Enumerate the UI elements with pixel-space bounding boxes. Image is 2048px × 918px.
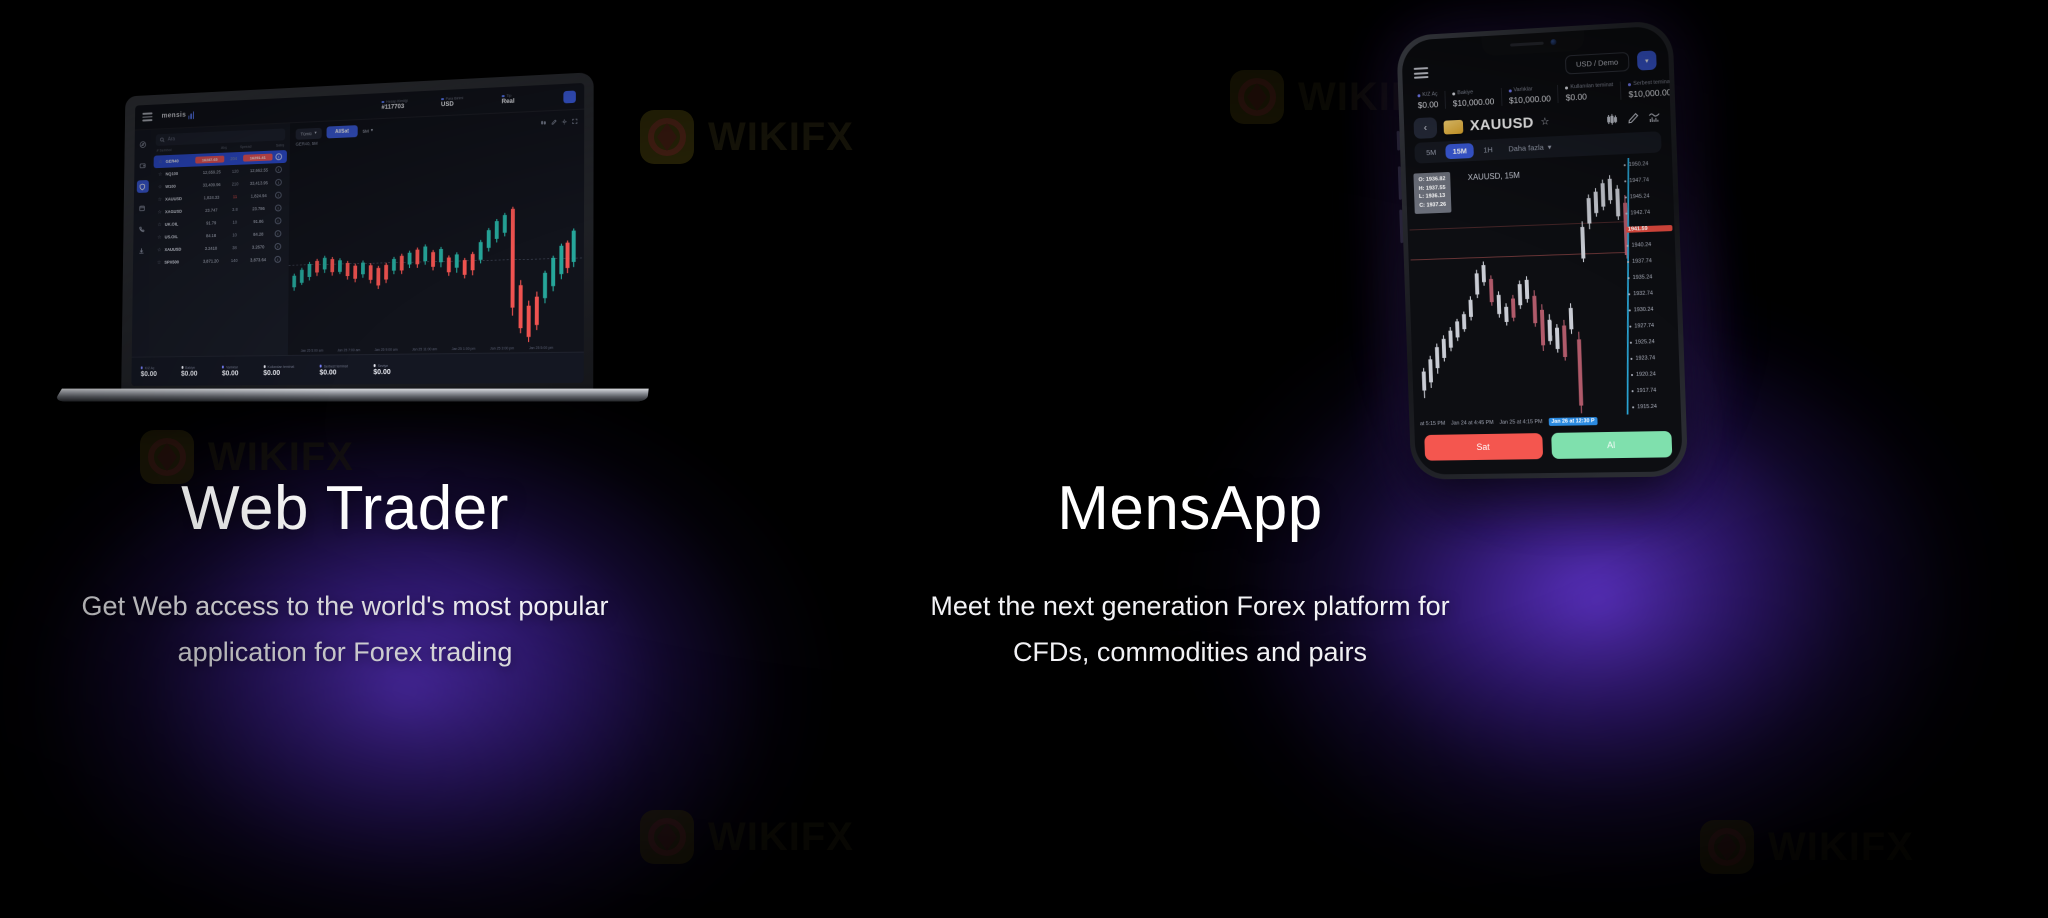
web-trader-caption: Web Trader Get Web access to the world's…	[0, 478, 690, 676]
price-tick: 1927.74	[1629, 322, 1676, 329]
currency-label: Para Birimi	[446, 96, 464, 101]
stat-free-margin: Serbest teminat $0.00	[319, 364, 347, 376]
account-stats-bar: K/Z Aç $0.00 Bakiye $0.00 Varlıklar $0.0…	[131, 352, 583, 386]
candlestick-icon[interactable]	[541, 120, 547, 126]
gold-bar-icon	[1443, 119, 1463, 134]
watermark-text: WIKIFX	[708, 815, 854, 860]
web-trader-screen: mensis Hesap Kimliği #117703 Para Birimi…	[131, 83, 584, 386]
sidebar-item-calendar[interactable]	[136, 201, 148, 214]
camera-icon	[1550, 39, 1556, 45]
indicator-chart-icon[interactable]	[1648, 110, 1661, 123]
account-type-cell: Tip Real	[502, 92, 549, 105]
price-tick: 1925.24	[1630, 339, 1677, 346]
wikifx-logo-icon	[640, 110, 694, 164]
candlestick-icon[interactable]	[1606, 113, 1618, 126]
info-icon[interactable]: i	[275, 192, 282, 199]
x-tick: at 5:15 PM	[1420, 421, 1445, 427]
chevron-down-icon: ▾	[314, 130, 316, 136]
star-icon[interactable]: ☆	[158, 172, 163, 178]
star-icon[interactable]: ☆	[158, 184, 163, 190]
stat-pnl: K/Z Aç $0.00	[141, 366, 157, 378]
account-summary: Hesap Kimliği #117703 Para Birimi USD Ti…	[381, 90, 576, 112]
phone-body: USD / Demo ▾ K/Z Aç $0.00 Bakiye $10,000…	[1396, 20, 1688, 480]
star-icon[interactable]: ☆	[157, 247, 162, 253]
stat-used-margin: Kullanılan teminat $0.00	[263, 364, 294, 376]
price-chart[interactable]: O: 1936.82 H: 1937.55 L: 1936.13 C: 1937…	[1407, 156, 1678, 418]
account-type-value: Real	[502, 97, 549, 105]
watermark-text: WIKIFX	[1768, 825, 1914, 870]
stat-level: Seviye $0.00	[373, 363, 390, 375]
chart-canvas	[288, 136, 584, 348]
ohlc-tooltip: O: 1936.82 H: 1937.55 L: 1936.13 C: 1937…	[1413, 172, 1451, 214]
chevron-down-icon[interactable]: ▾	[1637, 50, 1657, 70]
stat-pnl: K/Z Aç $0.00	[1411, 91, 1447, 111]
info-icon[interactable]: i	[274, 243, 281, 250]
laptop-lid: mensis Hesap Kimliği #117703 Para Birimi…	[121, 72, 594, 397]
col-bid: Alış	[199, 146, 227, 151]
current-time-tag: Jan 26 at 12:30 P	[1548, 417, 1597, 426]
price-tick: 1935.24	[1628, 274, 1675, 282]
web-trader-body: Ara # Sembol Alış Spread Satış ☆ GER40 1…	[132, 110, 584, 357]
current-price-tag: 1941.59	[1626, 225, 1673, 233]
sell-button[interactable]: Sat	[1424, 433, 1542, 461]
laptop-base	[54, 389, 649, 402]
sidebar-item-download[interactable]	[135, 244, 147, 257]
stat-equity: Varlıklar $10,000.00	[1502, 85, 1559, 106]
info-icon[interactable]: i	[275, 205, 282, 212]
tab-timeframe-1h[interactable]: 1H	[1476, 142, 1500, 158]
price-tick: 1937.74	[1627, 257, 1674, 265]
trade-actions: Sat Al	[1414, 427, 1682, 475]
phone-mockup: USD / Demo ▾ K/Z Aç $0.00 Bakiye $10,000…	[1396, 20, 1688, 480]
star-icon[interactable]: ☆	[158, 209, 163, 215]
price-tick: 1932.74	[1628, 290, 1675, 297]
info-icon[interactable]: i	[275, 218, 282, 225]
star-icon[interactable]: ☆	[157, 260, 162, 266]
star-outline-icon[interactable]: ☆	[1540, 116, 1549, 127]
info-icon[interactable]: i	[275, 153, 282, 160]
chart-tool-icons	[541, 118, 578, 126]
page-title: Web Trader	[0, 478, 690, 540]
account-type-label: Tip	[506, 94, 511, 98]
chevron-left-icon[interactable]: ‹	[1413, 117, 1437, 139]
price-tick: 1945.24	[1625, 193, 1672, 201]
star-icon[interactable]: ☆	[157, 222, 162, 228]
price-tick: 1947.74	[1624, 176, 1671, 184]
info-icon[interactable]: i	[274, 256, 281, 263]
sidebar-item-phone[interactable]	[136, 223, 148, 236]
sidebar-item-shield[interactable]	[136, 180, 148, 193]
stat-free-margin: Serbest teminat $10,000.00	[1621, 79, 1670, 100]
price-tick: 1923.74	[1630, 355, 1677, 362]
account-selector[interactable]: USD / Demo	[1565, 52, 1630, 75]
price-tick: 1917.74	[1631, 387, 1678, 394]
pencil-icon[interactable]	[1627, 111, 1640, 124]
price-tick: 1950.24	[1624, 160, 1671, 168]
currency-value: USD	[441, 100, 487, 108]
star-icon[interactable]: ☆	[158, 197, 163, 203]
symbol-list: Ara # Sembol Alış Spread Satış ☆ GER40 1…	[148, 123, 290, 356]
watermark: WIKIFX	[640, 110, 854, 164]
price-tick: 1915.24	[1632, 403, 1679, 410]
col-symbol: # Sembol	[157, 147, 195, 153]
pencil-icon[interactable]	[551, 119, 557, 125]
price-tick: 1940.24	[1626, 241, 1673, 249]
col-spread: Spread	[231, 145, 252, 150]
hamburger-menu-icon[interactable]	[1414, 67, 1429, 79]
web-trader-chart-panel: Tümü ▾ Al/Sat 5M ▾	[288, 110, 584, 355]
chevron-down-icon: ▾	[371, 127, 373, 133]
x-tick: Jan 24 at 4:45 PM	[1451, 420, 1494, 427]
x-tick: Jan 25 5:00 am	[301, 349, 324, 353]
search-icon	[159, 137, 165, 143]
mens-app-screen: USD / Demo ▾ K/Z Aç $0.00 Bakiye $10,000…	[1401, 25, 1683, 474]
symbol-name: XAUUSD	[1470, 114, 1534, 134]
account-id-value: #117703	[381, 103, 427, 111]
page-background: WIKIFX WIKIFX WIKIFX WIKIFX WIKIFX	[0, 0, 2048, 918]
watermark-text: WIKIFX	[708, 115, 854, 160]
star-icon[interactable]: ☆	[158, 159, 163, 165]
info-icon[interactable]: i	[275, 179, 282, 186]
tab-timeframe-5m[interactable]: 5M	[1419, 145, 1443, 161]
wikifx-logo-icon	[640, 810, 694, 864]
fullscreen-icon[interactable]	[572, 118, 578, 124]
settings-icon[interactable]	[561, 119, 567, 125]
laptop-mockup: mensis Hesap Kimliği #117703 Para Birimi…	[58, 84, 648, 424]
stat-used-margin: Kullanılan teminat $0.00	[1558, 82, 1621, 103]
x-tick: Jan 25 5:00 pm	[529, 346, 553, 350]
brand-logo: mensis	[162, 111, 194, 120]
buy-button[interactable]: Al	[1551, 431, 1673, 459]
x-tick: Jan 25 7:00 am	[337, 348, 360, 352]
timeframe-selector[interactable]: 5M ▾	[363, 127, 374, 133]
stat-balance: Bakiye $0.00	[181, 365, 198, 377]
brand-bars-icon	[188, 111, 194, 119]
wikifx-logo-icon	[1700, 820, 1754, 874]
chevron-down-icon: ▾	[1548, 142, 1552, 151]
search-placeholder: Ara	[168, 136, 175, 142]
col-ask: Satış	[255, 143, 284, 148]
currency-cell: Para Birimi USD	[441, 95, 487, 108]
x-tick: Jan 25 3:00 pm	[490, 346, 514, 350]
sidebar-item-compass[interactable]	[137, 138, 149, 151]
stat-balance: Bakiye $10,000.00	[1446, 88, 1503, 109]
x-tick: Jan 25 1:00 pm	[452, 347, 476, 351]
avatar[interactable]	[563, 90, 576, 103]
price-tick: 1920.24	[1631, 371, 1678, 378]
watermark: WIKIFX	[640, 810, 854, 864]
more-timeframes-dropdown[interactable]: Daha fazla ▾	[1508, 142, 1551, 153]
wikifx-logo-icon	[1230, 70, 1284, 124]
sidebar-item-wallet[interactable]	[137, 159, 149, 172]
watermark: WIKIFX	[1700, 820, 1914, 874]
chart-tool-icons	[1606, 110, 1661, 125]
speaker-icon	[1510, 41, 1544, 46]
trade-button[interactable]: Al/Sat	[326, 125, 357, 138]
caption-text: Meet the next generation Forex platform …	[845, 584, 1535, 676]
x-tick: Jan 25 at 4:15 PM	[1499, 419, 1542, 426]
mens-app-caption: MensApp Meet the next generation Forex p…	[845, 478, 1535, 676]
instrument-dropdown[interactable]: Tümü ▾	[296, 127, 322, 139]
info-icon[interactable]: i	[275, 166, 282, 173]
watermark-text: WIKIFX	[208, 435, 354, 480]
tab-timeframe-15m[interactable]: 15M	[1446, 143, 1474, 159]
ohlc-close: C: 1937.26	[1419, 201, 1446, 211]
hamburger-menu-icon[interactable]	[142, 113, 152, 122]
star-icon[interactable]: ☆	[157, 235, 162, 241]
caption-text: Get Web access to the world's most popul…	[0, 584, 690, 676]
stat-equity: Varlıklar $0.00	[222, 365, 239, 377]
account-id-cell: Hesap Kimliği #117703	[381, 98, 427, 111]
x-tick: Jan 25 9:00 am	[374, 348, 397, 352]
table-row[interactable]: ☆ SPX500 3,871.20 140 3,873.64 i	[152, 253, 286, 269]
price-tick: 1942.74	[1625, 209, 1672, 217]
info-icon[interactable]: i	[275, 230, 282, 237]
x-tick: Jan 25 11:00 am	[412, 347, 437, 351]
price-tick: 1930.24	[1629, 306, 1676, 313]
page-title: MensApp	[845, 478, 1535, 540]
price-scale: 1950.24 1947.74 1945.24 1942.74 1941.59 …	[1623, 156, 1678, 414]
